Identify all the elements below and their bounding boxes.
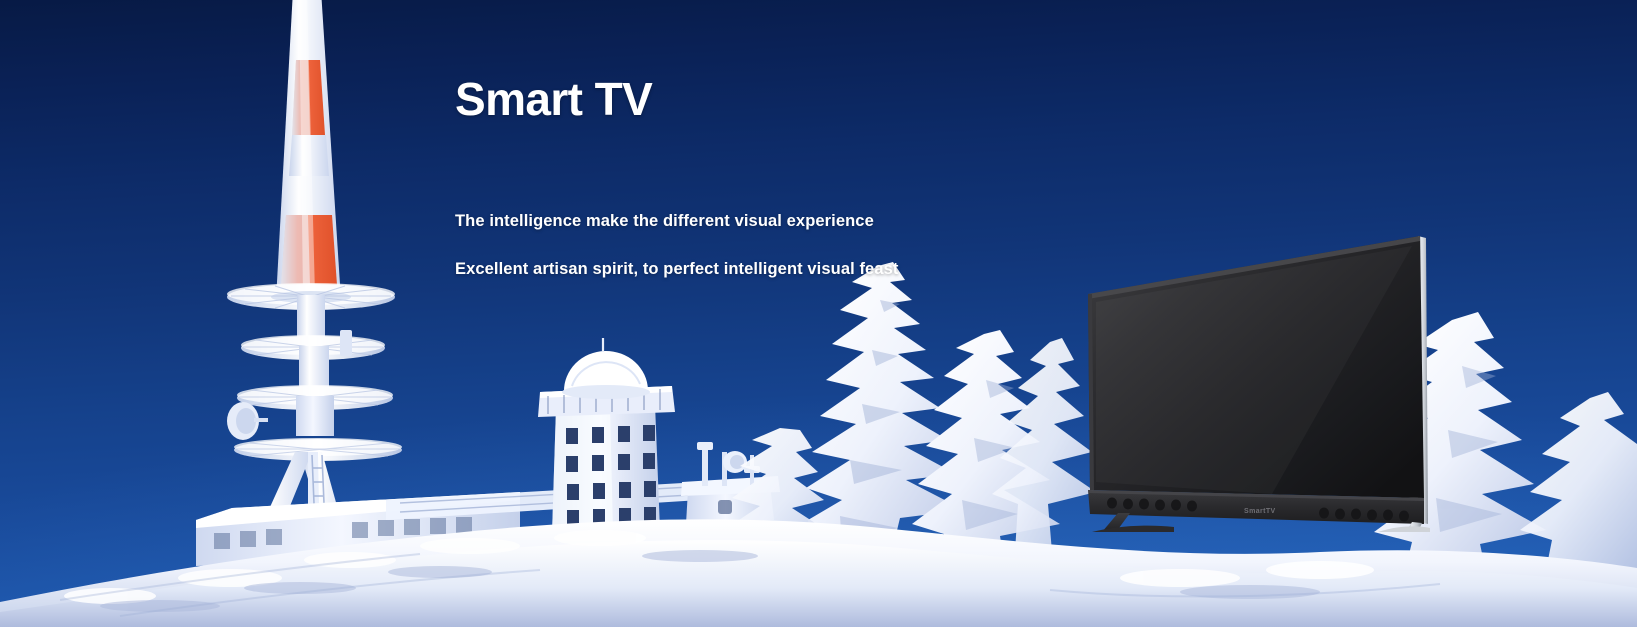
smart-tv-product: SmartTV — [1072, 232, 1432, 532]
subtitle-line-2: Excellent artisan spirit, to perfect int… — [455, 258, 898, 282]
tv-brand-logo: SmartTV — [1244, 508, 1276, 515]
page-title: Smart TV — [455, 75, 898, 123]
broadcast-tower-icon — [227, 0, 402, 560]
banner-copy: Smart TV The intelligence make the diffe… — [455, 75, 898, 306]
antenna-platform — [227, 385, 393, 440]
banner-subtitle: The intelligence make the different visu… — [455, 186, 898, 306]
summit-observatory — [538, 338, 675, 534]
subtitle-line-1: The intelligence make the different visu… — [455, 210, 898, 234]
smart-tv-hero-banner: Smart TV The intelligence make the diffe… — [0, 0, 1637, 627]
antenna-platform — [241, 330, 385, 388]
antenna-platform — [227, 283, 395, 343]
radar-dome-icon — [562, 338, 650, 399]
